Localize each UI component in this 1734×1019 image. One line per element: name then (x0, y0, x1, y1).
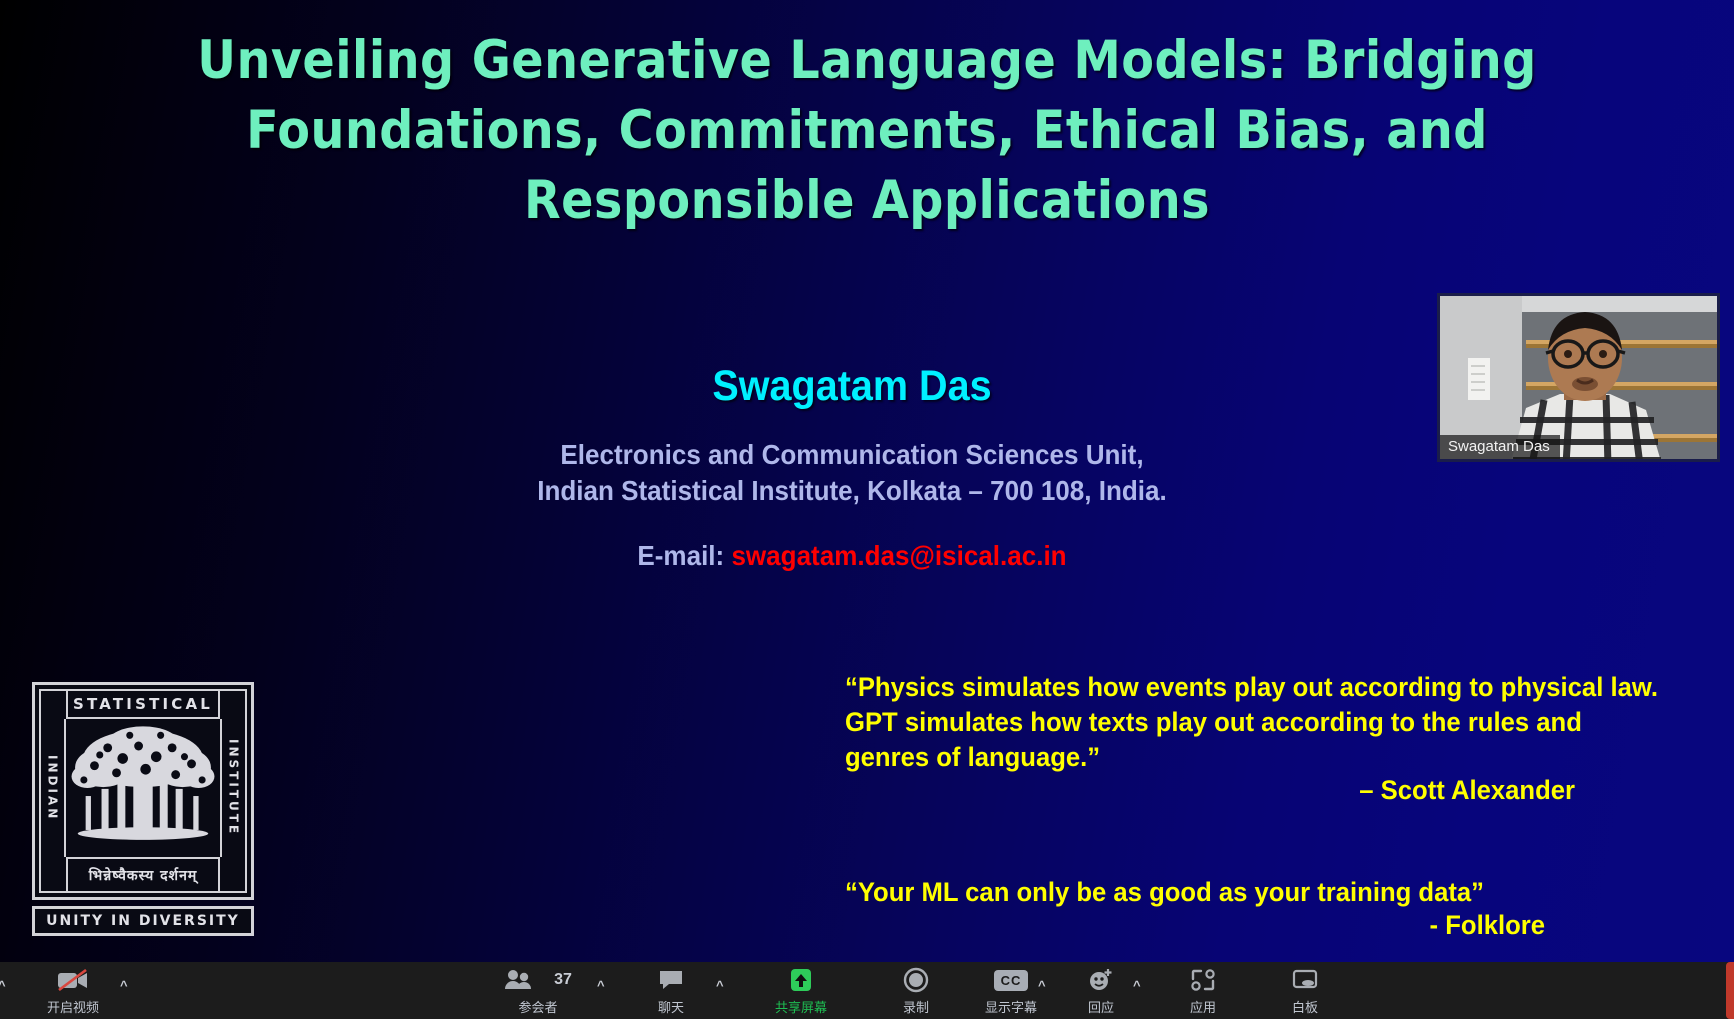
email-address: swagatam.das@isical.ac.in (731, 540, 1066, 571)
email-line: E-mail: swagatam.das@isical.ac.in (60, 540, 1645, 572)
logo-left-band: INDIAN (41, 719, 66, 857)
page-title: Unveiling Generative Language Models: Br… (123, 26, 1612, 236)
zoom-screenshare-window: Unveiling Generative Language Models: Br… (0, 0, 1734, 1019)
cc-icon: CC (994, 967, 1029, 993)
toolbar-item-apps[interactable]: 应用 (1175, 962, 1231, 1019)
chat-options-caret-icon[interactable]: ^ (716, 978, 724, 993)
quote-secondary-attribution: - Folklore (880, 910, 1545, 941)
smiley-plus-icon (1087, 967, 1115, 993)
toolbar-label-participants: 参会者 (518, 997, 557, 1016)
toolbar-item-video[interactable]: 开启视频 (42, 962, 104, 1019)
captions-options-caret-icon[interactable]: ^ (1038, 978, 1046, 993)
toolbar-item-record[interactable]: 录制 (885, 962, 947, 1019)
reactions-options-caret-icon[interactable]: ^ (1133, 978, 1141, 993)
camera-off-icon (57, 967, 89, 993)
isi-logo: STATISTICAL INDIAN INSTITUTE (30, 682, 255, 940)
logo-top-word: STATISTICAL (73, 695, 213, 713)
email-label: E-mail: (637, 540, 724, 571)
participants-icon: 37 (504, 967, 572, 993)
self-video-tile[interactable]: Swagatam Das (1437, 293, 1720, 462)
microphone-options-caret-icon[interactable]: ^ (0, 978, 6, 993)
toolbar-label-video: 开启视频 (47, 997, 99, 1016)
end-meeting-button[interactable] (1726, 962, 1734, 1019)
logo-top-band: STATISTICAL (66, 691, 220, 719)
toolbar-label-whiteboard: 白板 (1292, 997, 1318, 1016)
video-options-caret-icon[interactable]: ^ (120, 978, 128, 993)
participants-count: 37 (554, 971, 572, 989)
toolbar-label-reactions: 回应 (1088, 997, 1114, 1016)
logo-grid: STATISTICAL INDIAN INSTITUTE (39, 689, 247, 893)
toolbar-label-apps: 应用 (1190, 997, 1216, 1016)
toolbar-item-chat[interactable]: 聊天 (645, 962, 697, 1019)
toolbar-item-share-screen[interactable]: 共享屏幕 (758, 962, 844, 1019)
logo-frame: STATISTICAL INDIAN INSTITUTE (32, 682, 254, 900)
apps-icon (1190, 967, 1216, 993)
participant-name-label: Swagatam Das (1440, 435, 1560, 459)
author-name: Swagatam Das (68, 362, 1636, 411)
presentation-slide: Unveiling Generative Language Models: Br… (0, 0, 1734, 962)
logo-left-word: INDIAN (46, 755, 60, 821)
participants-options-caret-icon[interactable]: ^ (597, 978, 605, 993)
record-circle-icon (903, 967, 929, 993)
logo-right-band: INSTITUTE (220, 719, 245, 857)
whiteboard-icon (1292, 967, 1318, 993)
toolbar-item-participants[interactable]: 37 参会者 (505, 962, 571, 1019)
affiliation-line-2: Indian Statistical Institute, Kolkata – … (60, 473, 1645, 509)
logo-sanskrit-motto: भिन्नेष्वैकस्य दर्शनम् (89, 866, 197, 885)
quote-secondary: “Your ML can only be as good as your tra… (845, 875, 1662, 910)
quote-primary: “Physics simulates how events play out a… (845, 670, 1662, 775)
logo-sanskrit-band: भिन्नेष्वैकस्य दर्शनम् (66, 857, 220, 891)
logo-motto-band: UNITY IN DIVERSITY (32, 906, 254, 936)
cc-badge: CC (994, 970, 1029, 991)
zoom-toolbar: ^ 开启视频 ^ 37 (0, 962, 1734, 1019)
affiliation: Electronics and Communication Sciences U… (60, 437, 1645, 509)
banyan-tree-icon (68, 721, 218, 855)
toolbar-label-share-screen: 共享屏幕 (775, 997, 827, 1016)
toolbar-label-captions: 显示字幕 (985, 997, 1037, 1016)
logo-right-word: INSTITUTE (227, 739, 241, 836)
logo-bottom-motto: UNITY IN DIVERSITY (46, 913, 240, 929)
quote-primary-attribution: – Scott Alexander (882, 775, 1576, 806)
toolbar-label-record: 录制 (903, 997, 929, 1016)
toolbar-item-whiteboard[interactable]: 白板 (1277, 962, 1333, 1019)
toolbar-label-chat: 聊天 (658, 997, 684, 1016)
toolbar-item-reactions[interactable]: 回应 (1073, 962, 1129, 1019)
share-screen-icon (786, 967, 816, 993)
chat-bubble-icon (658, 967, 684, 993)
affiliation-line-1: Electronics and Communication Sciences U… (60, 437, 1645, 473)
